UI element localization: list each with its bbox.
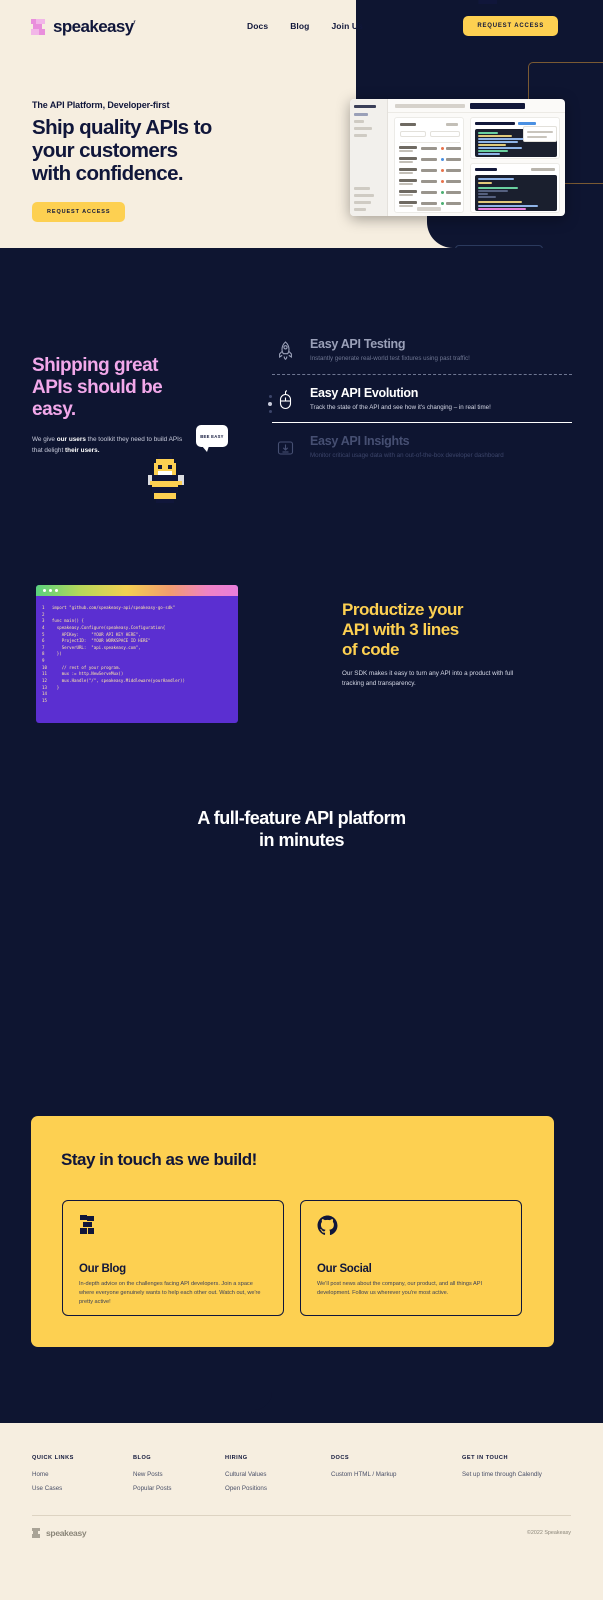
- our-blog-card[interactable]: Our Blog In-depth advice on the challeng…: [62, 1200, 284, 1316]
- footer-column-title: HIRING: [225, 1455, 331, 1461]
- bee-bubble-text: BEE EASY: [200, 434, 224, 439]
- footer-link-custom-html-markup[interactable]: Custom HTML / Markup: [331, 1471, 462, 1478]
- code-window-titlebar: [36, 585, 238, 596]
- platform-heading: A full-feature API platform in minutes: [0, 808, 603, 852]
- footer-link-use-cases[interactable]: Use Cases: [32, 1485, 133, 1492]
- logo-tm: ʳ: [134, 18, 135, 27]
- footer-link-cultural-values[interactable]: Cultural Values: [225, 1471, 331, 1478]
- page-title: Ship quality APIs to your customers with…: [32, 117, 302, 186]
- features-heading: Shipping great APIs should be easy.: [32, 355, 247, 421]
- hero-heading-line-2: your customers: [32, 139, 177, 162]
- dashboard-title: [470, 103, 525, 109]
- footer-link-open-positions[interactable]: Open Positions: [225, 1485, 331, 1492]
- dashboard-context-menu: [523, 126, 557, 142]
- footer-link-calendly[interactable]: Set up time through Calendly: [462, 1471, 572, 1478]
- feature-list: Easy API Testing Instantly generate real…: [272, 326, 572, 471]
- productize-desc: Our SDK makes it easy to turn any API in…: [342, 669, 517, 689]
- feature-item-testing[interactable]: Easy API Testing Instantly generate real…: [272, 326, 572, 374]
- platform-heading-line-2: in minutes: [259, 830, 344, 850]
- footer-column-title: QUICK LINKS: [32, 1455, 133, 1461]
- site-header: speakeasyʳ Docs Blog Join Us REQUEST ACC…: [0, 0, 603, 52]
- dashboard-sidebar: [350, 99, 388, 216]
- hero-copy: The API Platform, Developer-first Ship q…: [32, 100, 302, 222]
- site-footer: QUICK LINKS Home Use Cases BLOG New Post…: [0, 1440, 603, 1600]
- footer-column-title: GET IN TOUCH: [462, 1455, 572, 1461]
- nav-item-docs[interactable]: Docs: [247, 21, 268, 31]
- footer-column-title: DOCS: [331, 1455, 462, 1461]
- dashboard-breadcrumb: [395, 104, 465, 108]
- our-blog-title: Our Blog: [79, 1263, 267, 1275]
- footer-column-get-in-touch: GET IN TOUCH Set up time through Calendl…: [462, 1455, 572, 1499]
- landing-page: speakeasyʳ Docs Blog Join Us REQUEST ACC…: [0, 0, 603, 1600]
- our-social-card[interactable]: Our Social We'll post news about the com…: [300, 1200, 522, 1316]
- footer-column-quick-links: QUICK LINKS Home Use Cases: [32, 1455, 133, 1499]
- productize-copy: Productize your API with 3 lines of code…: [342, 600, 557, 689]
- feature-desc: Instantly generate real-world test fixtu…: [310, 354, 470, 364]
- footer-columns: QUICK LINKS Home Use Cases BLOG New Post…: [32, 1455, 572, 1499]
- product-dashboard-screenshot: [350, 99, 565, 216]
- productize-heading: Productize your API with 3 lines of code: [342, 600, 557, 660]
- stay-in-touch-heading: Stay in touch as we build!: [61, 1150, 257, 1170]
- nav-item-blog[interactable]: Blog: [290, 21, 309, 31]
- footer-bottom: speakeasy ©2022 Speakeasy: [32, 1528, 571, 1538]
- nav-item-join-us[interactable]: Join Us: [331, 21, 362, 31]
- footer-column-hiring: HIRING Cultural Values Open Positions: [225, 1455, 331, 1499]
- logo-text: speakeasyʳ: [53, 17, 135, 37]
- dashboard-table-card: [394, 117, 464, 213]
- download-box-icon: [272, 434, 298, 457]
- speakeasy-logo-icon: [31, 19, 46, 36]
- feature-desc: Track the state of the API and see how i…: [310, 403, 491, 413]
- footer-link-home[interactable]: Home: [32, 1471, 133, 1478]
- feature-title: Easy API Testing: [310, 337, 470, 351]
- code-block: 1 import "github.com/speakeasy-api/speak…: [36, 605, 238, 704]
- logo[interactable]: speakeasyʳ: [31, 17, 135, 37]
- our-social-title: Our Social: [317, 1263, 505, 1275]
- hero-eyebrow: The API Platform, Developer-first: [32, 100, 302, 110]
- rocket-icon: [272, 337, 298, 360]
- our-blog-desc: In-depth advice on the challenges facing…: [79, 1280, 267, 1307]
- hero-heading-line-1: Ship quality APIs to: [32, 116, 212, 139]
- footer-column-blog: BLOG New Posts Popular Posts: [133, 1455, 225, 1499]
- features-heading-line-3: easy.: [32, 399, 76, 420]
- main-nav: Docs Blog Join Us: [247, 21, 363, 31]
- footer-column-docs: DOCS Custom HTML / Markup: [331, 1455, 462, 1499]
- dashboard-logs-card: [470, 163, 560, 213]
- speakeasy-logo-icon-3: [32, 1528, 41, 1538]
- footer-column-title: BLOG: [133, 1455, 225, 1461]
- dark-tail-shape: [0, 1347, 272, 1410]
- feature-title: Easy API Insights: [310, 434, 504, 448]
- bee-mascot-icon: [140, 453, 196, 507]
- copyright: ©2022 Speakeasy: [527, 1530, 571, 1536]
- code-body: 1 import "github.com/speakeasy-api/speak…: [36, 596, 238, 704]
- feature-item-insights[interactable]: Easy API Insights Monitor critical usage…: [272, 423, 572, 471]
- github-icon: [317, 1215, 505, 1241]
- platform-heading-line-1: A full-feature API platform: [197, 808, 405, 828]
- code-sample-card: 1 import "github.com/speakeasy-api/speak…: [36, 585, 238, 723]
- footer-logo-text: speakeasy: [46, 1528, 86, 1538]
- footer-link-popular-posts[interactable]: Popular Posts: [133, 1485, 225, 1492]
- header-request-access-button[interactable]: REQUEST ACCESS: [463, 16, 558, 36]
- feature-desc: Monitor critical usage data with an out-…: [310, 451, 504, 461]
- features-heading-line-2: APIs should be: [32, 377, 162, 398]
- our-social-desc: We'll post news about the company, our p…: [317, 1280, 505, 1298]
- mouse-icon: [272, 386, 298, 411]
- dashboard-request-card: [470, 117, 560, 159]
- features-heading-line-1: Shipping great: [32, 355, 158, 376]
- feature-title: Easy API Evolution: [310, 386, 491, 400]
- footer-logo[interactable]: speakeasy: [32, 1528, 86, 1538]
- bee-speech-bubble: BEE EASY: [196, 425, 228, 447]
- hero-heading-line-3: with confidence.: [32, 162, 183, 185]
- speakeasy-logo-icon-2: [79, 1215, 267, 1241]
- feature-item-evolution[interactable]: Easy API Evolution Track the state of th…: [272, 375, 572, 423]
- hero-request-access-button[interactable]: REQUEST ACCESS: [32, 202, 125, 222]
- footer-divider: [32, 1515, 571, 1516]
- footer-link-new-posts[interactable]: New Posts: [133, 1471, 225, 1478]
